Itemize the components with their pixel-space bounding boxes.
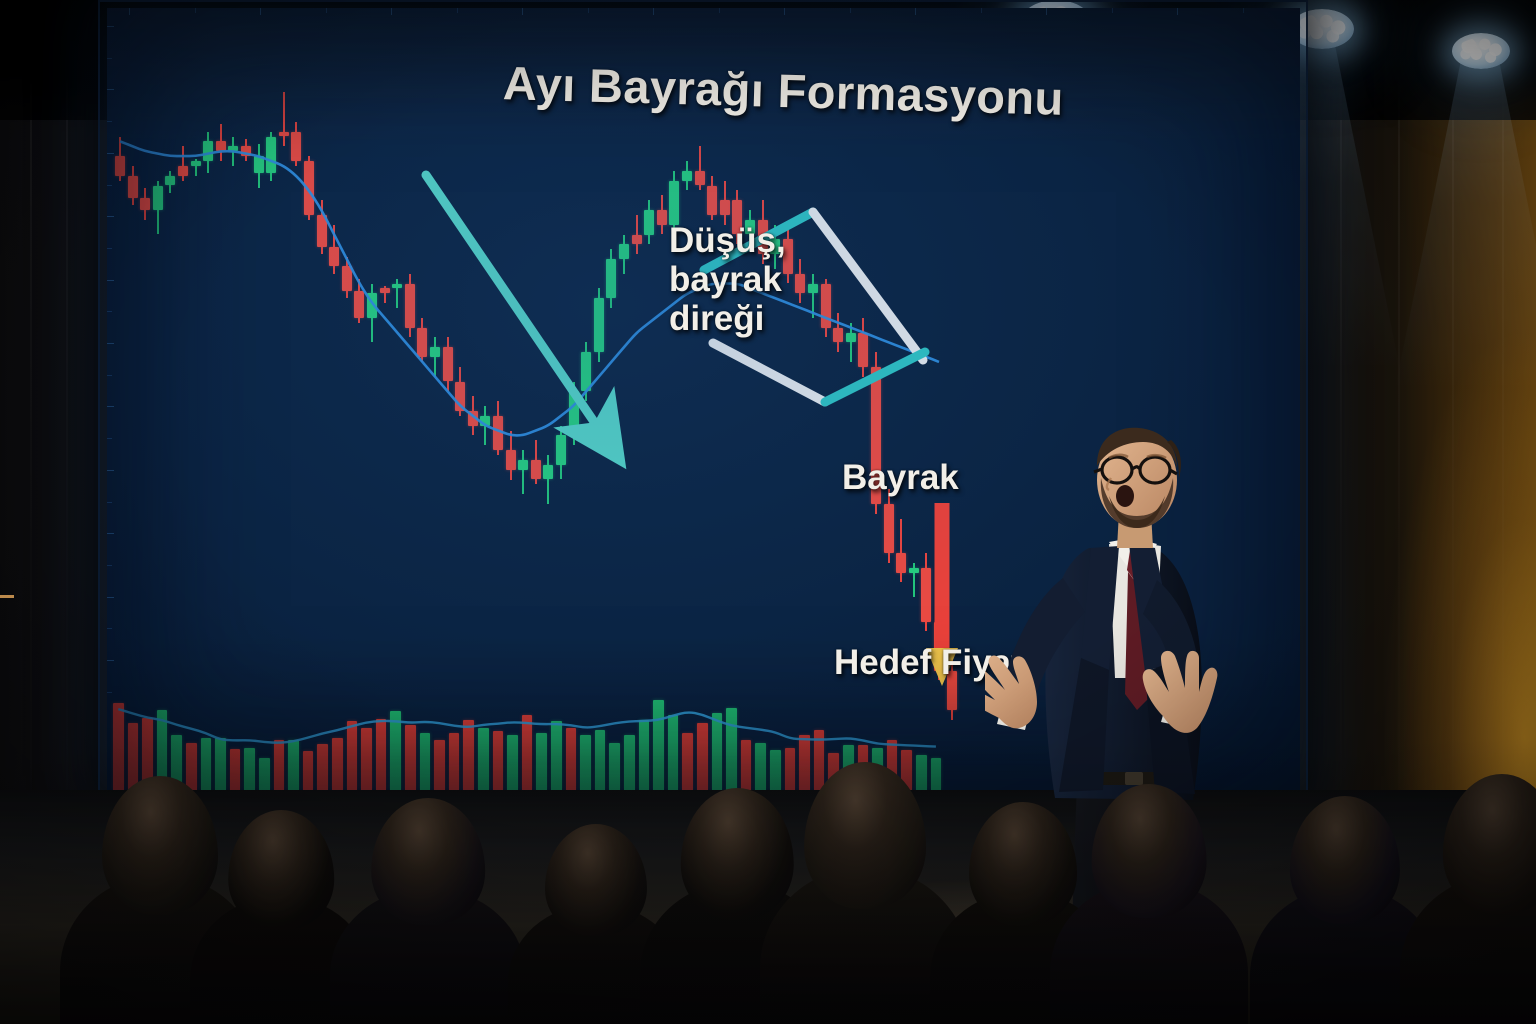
candle-body bbox=[304, 161, 314, 215]
candle-body bbox=[833, 328, 843, 343]
candle-wick bbox=[283, 92, 285, 146]
candle-body bbox=[468, 411, 478, 426]
candle-wick bbox=[434, 337, 436, 376]
candle-body bbox=[821, 284, 831, 328]
candle bbox=[758, 8, 768, 790]
candle bbox=[581, 8, 591, 790]
candle bbox=[266, 8, 276, 790]
candle-body bbox=[165, 176, 175, 186]
audience-head bbox=[804, 762, 926, 909]
candle-body bbox=[682, 171, 692, 181]
candle bbox=[165, 8, 175, 790]
candle bbox=[770, 8, 780, 790]
candle-body bbox=[506, 450, 516, 470]
candle bbox=[569, 8, 579, 790]
candle bbox=[342, 8, 352, 790]
candle-body bbox=[632, 235, 642, 245]
candle-body bbox=[279, 132, 289, 137]
audience-member bbox=[330, 798, 526, 1024]
candle-wick bbox=[850, 323, 852, 362]
candle-body bbox=[657, 210, 667, 225]
candle bbox=[657, 8, 667, 790]
candle bbox=[669, 8, 679, 790]
candle-wick bbox=[547, 455, 549, 504]
candle bbox=[178, 8, 188, 790]
candle bbox=[518, 8, 528, 790]
candle bbox=[632, 8, 642, 790]
candle bbox=[228, 8, 238, 790]
candle bbox=[745, 8, 755, 790]
candle-body bbox=[191, 161, 201, 166]
candle-body bbox=[392, 284, 402, 289]
candle bbox=[191, 8, 201, 790]
target-price-line bbox=[0, 595, 1536, 598]
candle-body bbox=[480, 416, 490, 426]
candle-body bbox=[518, 460, 528, 470]
candle-wick bbox=[522, 450, 524, 494]
audience-head bbox=[371, 798, 485, 925]
candle bbox=[556, 8, 566, 790]
candle-wick bbox=[484, 406, 486, 445]
audience-member bbox=[1400, 774, 1536, 1024]
candle-body bbox=[720, 200, 730, 215]
audience-silhouettes bbox=[0, 724, 1536, 1024]
candle bbox=[644, 8, 654, 790]
candle-body bbox=[581, 352, 591, 391]
candle-body bbox=[569, 391, 579, 435]
candle-body bbox=[846, 333, 856, 343]
candle-body bbox=[443, 347, 453, 381]
candle-body bbox=[606, 259, 616, 298]
candle bbox=[493, 8, 503, 790]
candle bbox=[606, 8, 616, 790]
candle-body bbox=[695, 171, 705, 186]
candle-body bbox=[115, 156, 125, 176]
candle-body bbox=[858, 333, 868, 367]
candle-body bbox=[896, 553, 906, 573]
candle bbox=[682, 8, 692, 790]
candle bbox=[304, 8, 314, 790]
candle bbox=[808, 8, 818, 790]
candle-body bbox=[254, 156, 264, 173]
candle bbox=[405, 8, 415, 790]
candle-body bbox=[543, 465, 553, 480]
candle bbox=[115, 8, 125, 790]
candle bbox=[468, 8, 478, 790]
candle-body bbox=[795, 274, 805, 294]
audience-head bbox=[1092, 784, 1207, 918]
candle bbox=[443, 8, 453, 790]
candle bbox=[329, 8, 339, 790]
candle bbox=[821, 8, 831, 790]
candle bbox=[291, 8, 301, 790]
audience-head bbox=[1290, 796, 1400, 924]
candle-body bbox=[417, 328, 427, 357]
candle-body bbox=[430, 347, 440, 357]
candle bbox=[241, 8, 251, 790]
candle-body bbox=[493, 416, 503, 450]
candle bbox=[203, 8, 213, 790]
candle bbox=[480, 8, 490, 790]
candle bbox=[619, 8, 629, 790]
audience-head bbox=[545, 824, 647, 936]
candle bbox=[254, 8, 264, 790]
candle bbox=[392, 8, 402, 790]
candle-wick bbox=[232, 137, 234, 166]
candle bbox=[354, 8, 364, 790]
candle-body bbox=[266, 137, 276, 174]
candle-body bbox=[380, 288, 390, 293]
candle-body bbox=[669, 181, 679, 225]
candle bbox=[128, 8, 138, 790]
candle-body bbox=[178, 166, 188, 176]
candle-body bbox=[140, 198, 150, 210]
candle bbox=[506, 8, 516, 790]
candle bbox=[783, 8, 793, 790]
candle bbox=[317, 8, 327, 790]
candle-body bbox=[531, 460, 541, 480]
spotlight-icon bbox=[1452, 33, 1510, 69]
candle-body bbox=[909, 568, 919, 573]
audience-member bbox=[1050, 784, 1248, 1024]
candle-body bbox=[644, 210, 654, 235]
candle bbox=[216, 8, 226, 790]
candle-body bbox=[594, 298, 604, 352]
candle-body bbox=[354, 291, 364, 318]
candle-body bbox=[808, 284, 818, 294]
audience-head bbox=[228, 810, 334, 930]
candle bbox=[367, 8, 377, 790]
audience-head bbox=[1443, 774, 1536, 914]
candle-wick bbox=[900, 519, 902, 583]
candle bbox=[279, 8, 289, 790]
candle bbox=[695, 8, 705, 790]
candle-body bbox=[707, 186, 717, 215]
candle bbox=[417, 8, 427, 790]
candle-body bbox=[884, 504, 894, 553]
candle-body bbox=[317, 215, 327, 247]
annotation-flagpole: Düşüş, bayrak direği bbox=[669, 221, 786, 339]
candle-body bbox=[619, 244, 629, 259]
candle bbox=[380, 8, 390, 790]
candle-body bbox=[228, 146, 238, 151]
candle bbox=[795, 8, 805, 790]
candle-body bbox=[153, 186, 163, 211]
candle-body bbox=[367, 293, 377, 318]
candle-body bbox=[329, 247, 339, 267]
candle-body bbox=[216, 141, 226, 151]
candle-body bbox=[241, 146, 251, 156]
candle bbox=[455, 8, 465, 790]
candle bbox=[140, 8, 150, 790]
candle bbox=[543, 8, 553, 790]
candle bbox=[430, 8, 440, 790]
candle bbox=[153, 8, 163, 790]
candle-body bbox=[455, 382, 465, 411]
candle-body bbox=[342, 266, 352, 291]
candle-wick bbox=[812, 274, 814, 318]
candle bbox=[594, 8, 604, 790]
candle bbox=[720, 8, 730, 790]
candle-body bbox=[128, 176, 138, 198]
candle-body bbox=[405, 284, 415, 328]
stage-scene: Ayı Bayrağı Formasyonu Düşüş, bayrak dir… bbox=[0, 0, 1536, 1024]
candle-body bbox=[291, 132, 301, 161]
candle-body bbox=[203, 141, 213, 161]
candle-body bbox=[556, 435, 566, 464]
candle bbox=[732, 8, 742, 790]
candle bbox=[707, 8, 717, 790]
candle bbox=[531, 8, 541, 790]
annotation-flag: Bayrak bbox=[842, 458, 959, 497]
